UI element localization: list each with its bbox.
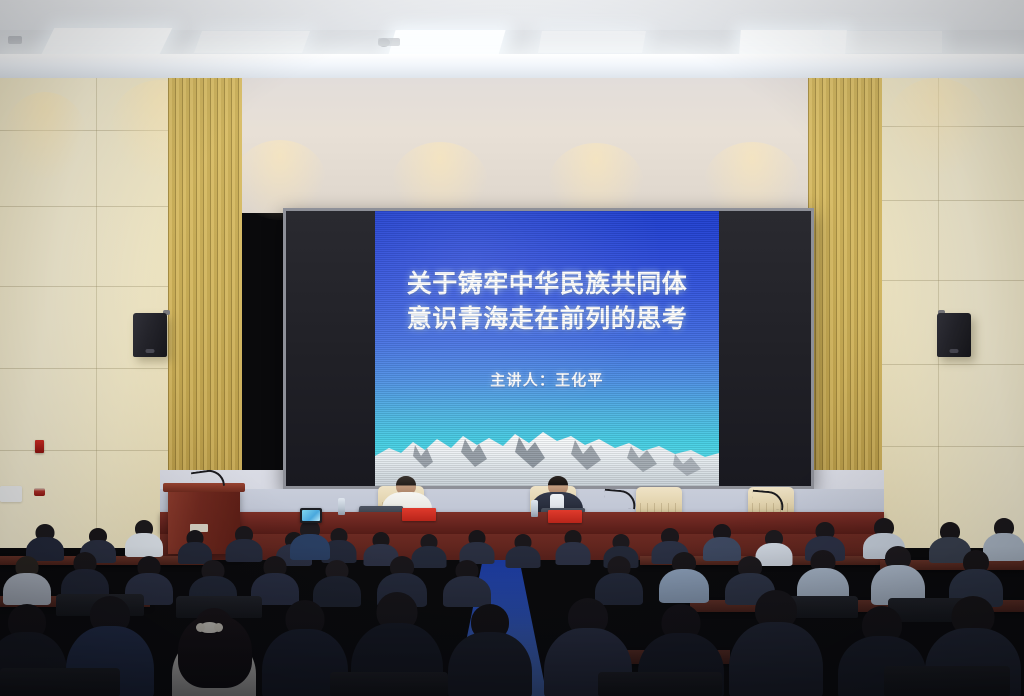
audience-member (734, 590, 818, 696)
audience-member (452, 604, 528, 696)
seat-back (884, 666, 1010, 696)
conference-hall-photo: 关于铸牢中华民族共同体 意识青海走在前列的思考 主讲人：王化平 (0, 0, 1024, 696)
audience-member (4, 556, 50, 604)
led-video-wall[interactable]: 关于铸牢中华民族共同体 意识青海走在前列的思考 主讲人：王化平 (283, 208, 814, 489)
audience-member (226, 526, 262, 560)
fire-alarm-call-point-icon (35, 440, 44, 453)
water-bottle (338, 498, 345, 515)
audience-member (178, 530, 212, 562)
audience-member (872, 546, 924, 604)
name-plate (548, 510, 582, 523)
slide-title: 关于铸牢中华民族共同体 意识青海走在前列的思考 (375, 267, 719, 336)
audience-member (126, 520, 162, 556)
audience-member (704, 524, 740, 560)
wall-panel (0, 486, 22, 502)
slide-title-line2: 意识青海走在前列的思考 (375, 302, 719, 337)
ceiling-light-cove (0, 54, 1024, 78)
audience-member (556, 530, 590, 563)
ceiling-vent-icon (378, 38, 400, 46)
led-idle-panel-left (286, 211, 375, 486)
slide-subtitle: 主讲人：王化平 (375, 369, 719, 390)
wall-speaker-right (937, 313, 971, 357)
presentation-slide: 关于铸牢中华民族共同体 意识青海走在前列的思考 主讲人：王化平 (375, 211, 719, 486)
panel-light (830, 31, 942, 53)
smartphone[interactable] (300, 508, 322, 523)
stage-curtain-left (168, 78, 242, 510)
back-wall-above-screen (160, 78, 884, 213)
seat-back (598, 672, 722, 696)
panel-light (538, 31, 646, 53)
led-idle-panel-right (713, 211, 811, 486)
audience-member (444, 560, 490, 606)
slide-title-line1: 关于铸牢中华民族共同体 (375, 267, 719, 302)
panel-light (388, 30, 505, 55)
ceiling-sensor-icon (8, 36, 22, 44)
audience-member (660, 552, 708, 602)
name-plate (402, 508, 436, 521)
audience-member (460, 530, 494, 562)
audience-member (26, 524, 64, 560)
wall-speaker-left (133, 313, 167, 357)
fire-alarm-bell-icon (34, 488, 45, 496)
ceiling-soffit (0, 0, 1024, 30)
seat-back (330, 672, 448, 696)
seat-back (0, 668, 120, 696)
panel-light (194, 31, 310, 53)
panel-light (42, 28, 173, 54)
hair-bow (200, 622, 219, 633)
audience-member (596, 556, 642, 604)
mountain-range-graphic (375, 412, 719, 486)
stage-curtain-right (808, 78, 882, 510)
water-bottle (531, 500, 538, 517)
audience-member (506, 534, 540, 566)
